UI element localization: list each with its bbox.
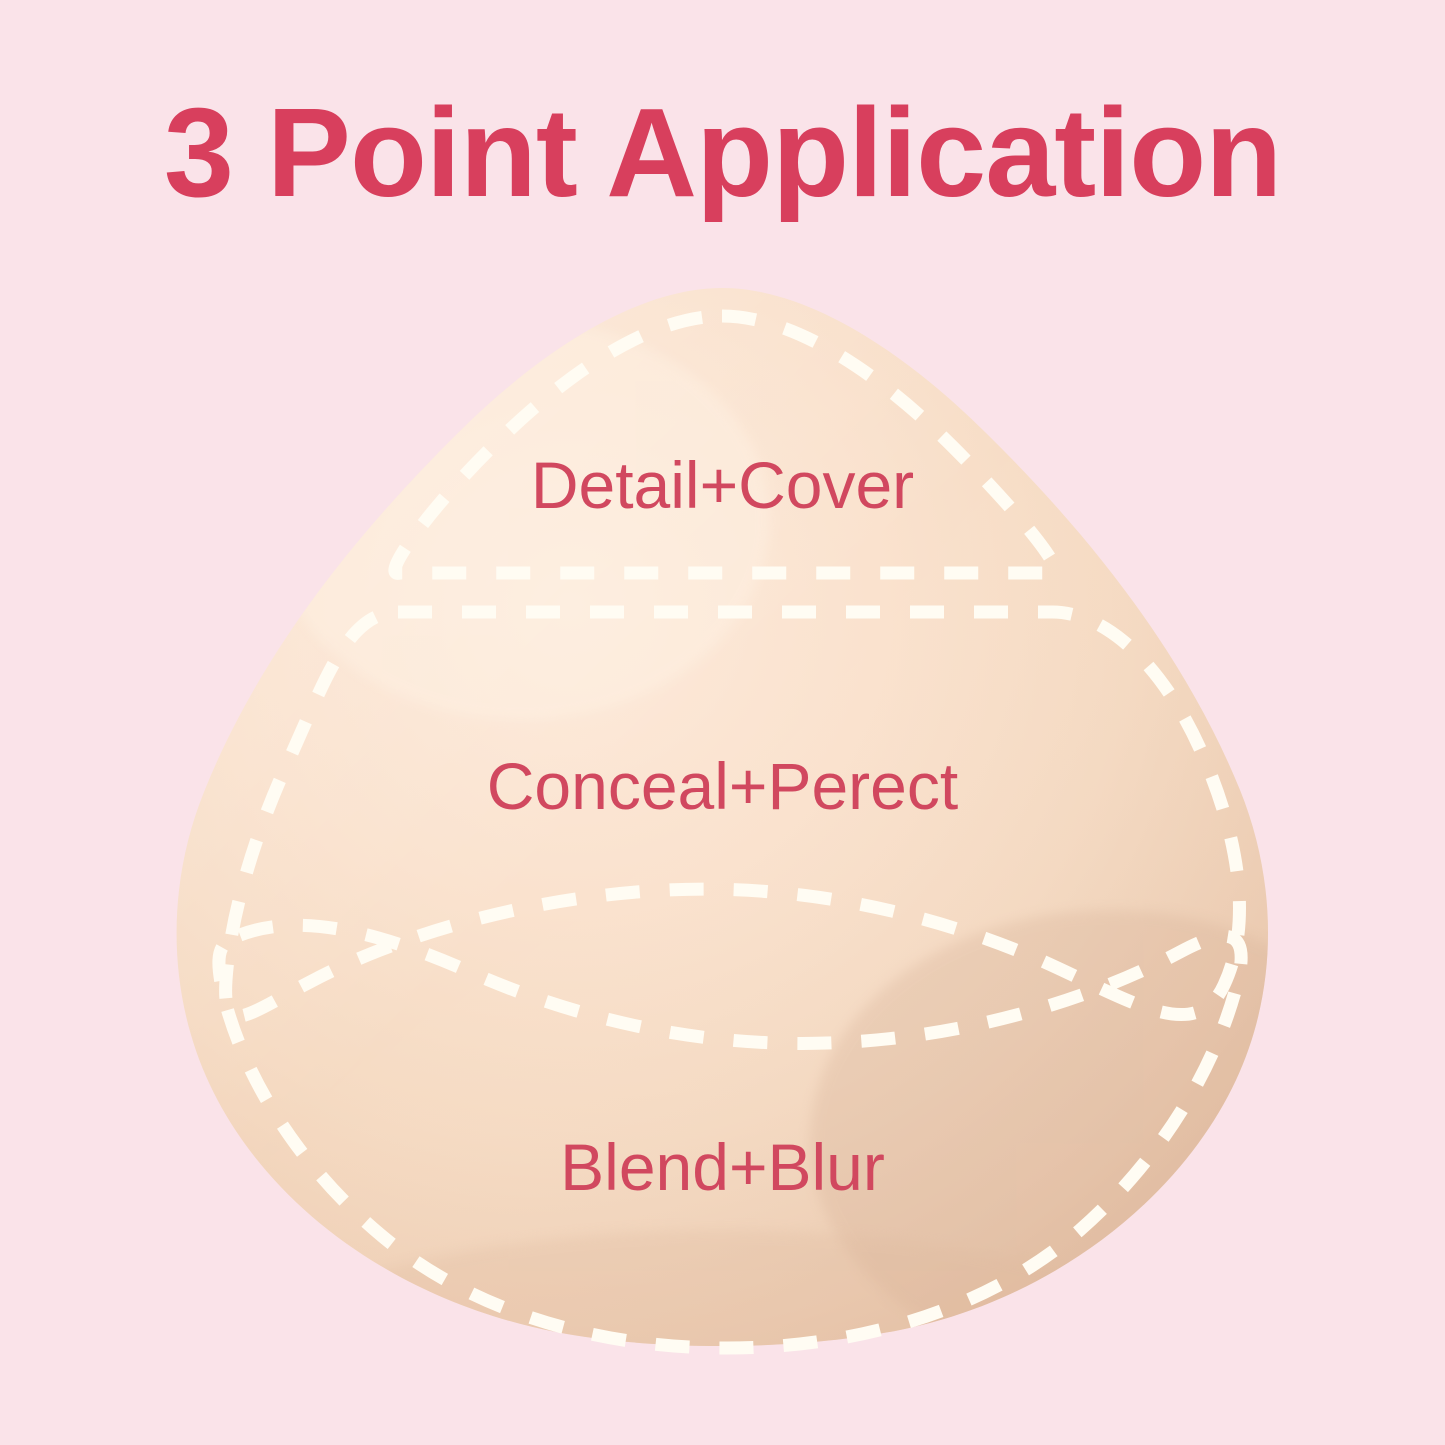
region-label-conceal-perect: Conceal+Perect xyxy=(0,753,1445,819)
product-infographic: 3 Point Application xyxy=(0,0,1445,1445)
sponge-illustration: Detail+Cover Conceal+Perect Blend+Blur xyxy=(0,0,1445,1445)
sponge-graphic xyxy=(0,0,1445,1445)
region-label-detail-cover: Detail+Cover xyxy=(0,452,1445,518)
region-label-blend-blur: Blend+Blur xyxy=(0,1134,1445,1200)
